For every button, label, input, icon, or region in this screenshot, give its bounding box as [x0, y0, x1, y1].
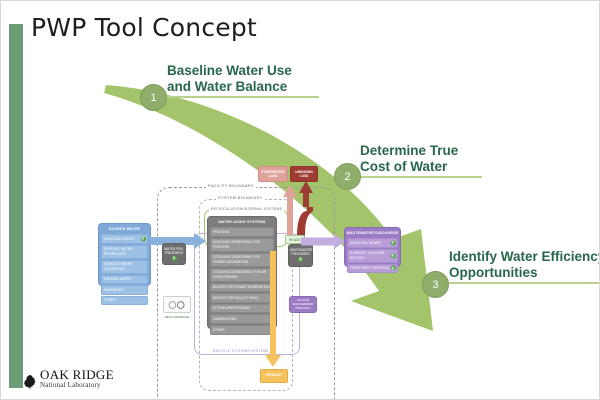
water-pretreatment-box[interactable]: WATER PRE-TREATMENT $ — [162, 243, 186, 265]
wwd-row[interactable]: MUNICIPAL SEWER $ — [347, 238, 398, 248]
wus-row[interactable]: PROCESS — [210, 227, 274, 237]
reclaim-reuse-label: RECLAIM/REUSE — [164, 315, 190, 319]
water-pretreatment-label: WATER PRE-TREATMENT — [164, 247, 184, 255]
wus-row[interactable]: COOLING/CONDENSING FOR POWER GENERATION — [210, 253, 274, 267]
logo-secondary: National Laboratory — [40, 381, 114, 389]
logo-primary: OAK RIDGE — [40, 368, 114, 381]
wwd-row[interactable]: SURFACE, LAGOONS, DITCHES $ — [347, 249, 398, 263]
oak-ridge-logo: OAK RIDGE National Laboratory — [23, 368, 114, 389]
oak-leaf-icon — [23, 374, 37, 389]
row-label: THIRD PARTY DISPOSAL — [350, 266, 390, 270]
water-using-systems-title: WATER-USING SYSTEMS — [208, 217, 276, 226]
wus-row[interactable]: BOILER FOR FACILITY HEAT — [210, 293, 274, 303]
source-water-row[interactable]: SURFACE WATER OCEAN/TIDE — [101, 260, 148, 274]
recycle-label: RECYCLE TO OTHER SYSTEMS — [211, 349, 271, 353]
source-water-row[interactable]: RAINWATER — [101, 285, 148, 295]
row-label: MUNICIPAL SEWER — [350, 241, 381, 245]
recycle-icon — [164, 300, 190, 310]
product-flow-arrow — [266, 251, 282, 371]
wus-row[interactable]: OTHER — [210, 325, 274, 335]
cost-icon: $ — [391, 266, 396, 271]
source-water-panel[interactable]: SOURCE WATER MUNICIPAL WATER $ SURFACE W… — [98, 223, 151, 286]
onsite-disposal-box[interactable]: ON-SITE WASTEWATER DISPOSAL — [289, 296, 317, 313]
reclaim-reuse-legend: RECLAIM/REUSE — [163, 296, 191, 313]
source-water-row[interactable]: MUNICIPAL WATER $ — [101, 234, 148, 244]
row-label: SURFACE, LAGOONS, DITCHES — [350, 251, 385, 259]
system-boundary-label: SYSTEM BOUNDARY — [216, 195, 265, 200]
wus-row[interactable]: LANDSCAPING — [210, 314, 274, 324]
source-water-title: SOURCE WATER — [99, 224, 150, 233]
cost-icon: $ — [391, 240, 396, 245]
wus-row[interactable]: COOLING/CONDENSING FOR PROCESS — [210, 238, 274, 252]
product-box[interactable]: PRODUCT — [260, 369, 288, 383]
cost-icon: $ — [141, 236, 146, 241]
logo-text: OAK RIDGE National Laboratory — [40, 368, 114, 389]
water-balance-diagram: FACILITY BOUNDARY SYSTEM BOUNDARY RECIRC… — [1, 1, 600, 400]
row-label: MUNICIPAL WATER — [104, 237, 135, 241]
wus-row[interactable]: COOLING/CONDENSING FOR AIR CONDITIONING — [210, 268, 274, 282]
evaporative-loss-box[interactable]: EVAPORATIVE LOSS — [258, 166, 288, 182]
wus-row[interactable]: KITCHEN/RESTROOMS — [210, 304, 274, 314]
wus-row[interactable]: BOILER FOR POWER GENERATION — [210, 283, 274, 293]
to-discharge-arrow — [301, 234, 345, 249]
cost-icon: $ — [391, 253, 396, 258]
wwd-row[interactable]: THIRD PARTY DISPOSAL $ — [347, 264, 398, 274]
cost-icon: $ — [172, 256, 177, 261]
unknown-loss-box[interactable]: UNKNOWN LOSS — [290, 166, 318, 182]
facility-boundary-label: FACILITY BOUNDARY — [206, 183, 256, 188]
wastewater-discharge-panel[interactable]: WASTEWATER DISCHARGE MUNICIPAL SEWER $ S… — [344, 227, 401, 267]
wastewater-discharge-title: WASTEWATER DISCHARGE — [345, 228, 400, 237]
source-water-row[interactable]: GROUND WATER — [101, 275, 148, 285]
source-water-row[interactable]: OTHER — [101, 296, 148, 306]
cost-icon: $ — [298, 257, 303, 262]
source-water-row[interactable]: SURFACE WATER RIVER/LAKES — [101, 245, 148, 259]
slide-canvas: PWP Tool Concept Baseline Water Useand W… — [0, 0, 600, 400]
